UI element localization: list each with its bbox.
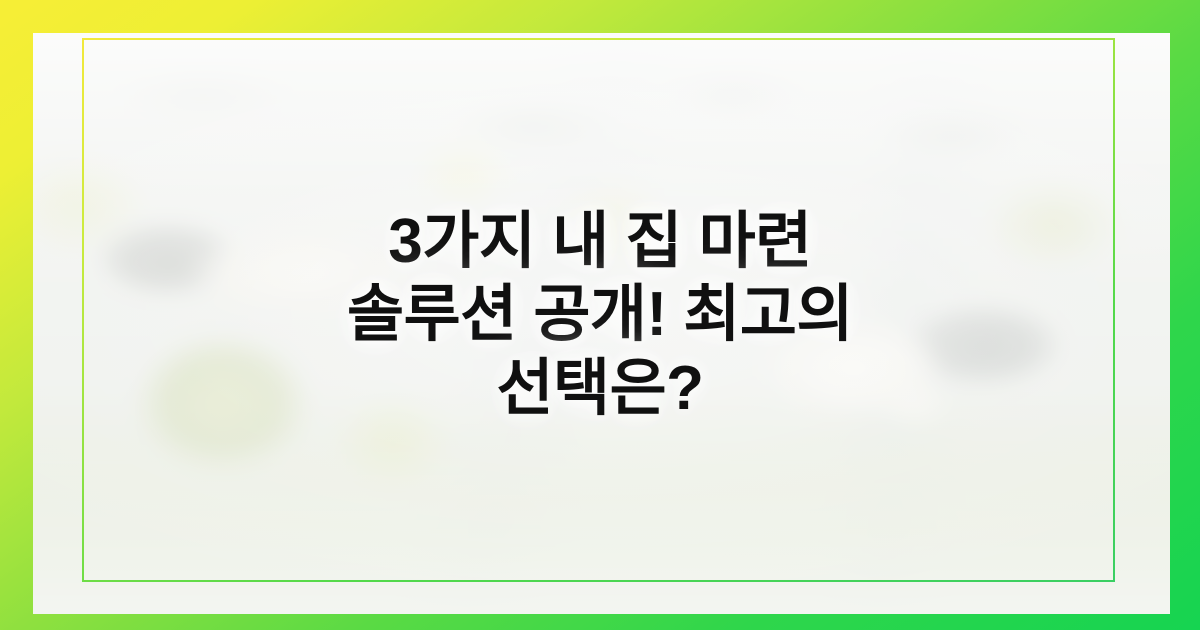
headline-line-1: 3가지 내 집 마련 <box>220 205 980 278</box>
poster-canvas: 3가지 내 집 마련 솔루션 공개! 최고의 선택은? <box>0 0 1200 630</box>
headline-line-3: 선택은? <box>220 352 980 425</box>
headline-line-2: 솔루션 공개! 최고의 <box>220 278 980 351</box>
headline-container: 3가지 내 집 마련 솔루션 공개! 최고의 선택은? <box>0 0 1200 630</box>
page-title: 3가지 내 집 마련 솔루션 공개! 최고의 선택은? <box>220 205 980 424</box>
